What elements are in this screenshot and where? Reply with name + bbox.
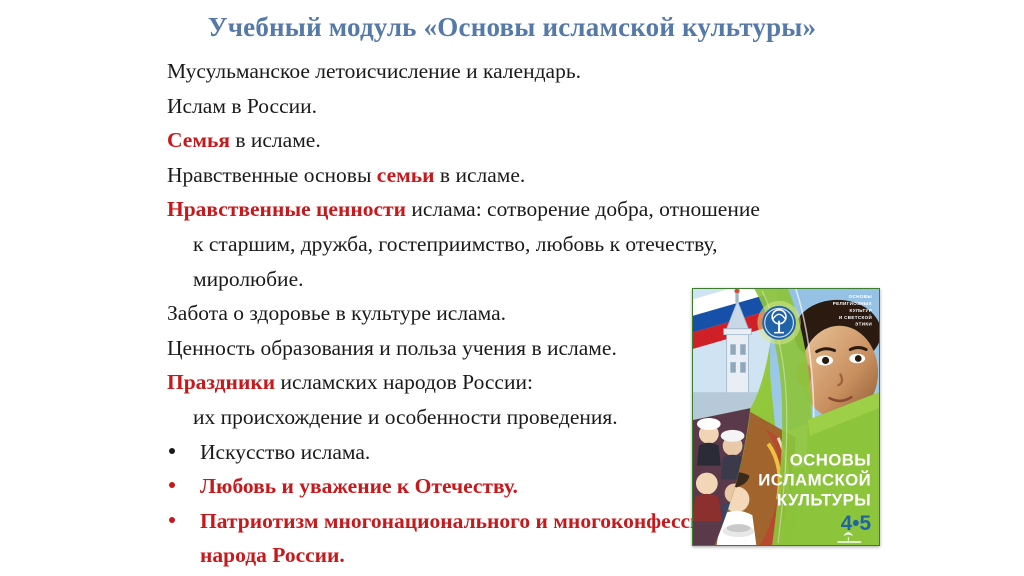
highlight-nravstvennye-cennosti: Нравственные ценности xyxy=(167,197,406,221)
tree-emblem-icon xyxy=(757,301,801,345)
cover-title-line-1: ОСНОВЫ xyxy=(790,451,871,470)
body-line-3-rest: в исламе. xyxy=(230,128,321,152)
page-title: Учебный модуль «Основы исламской культур… xyxy=(0,11,1024,43)
bullet-dot-icon xyxy=(169,448,175,454)
body-line-4: Нравственные основы семьи в исламе. xyxy=(167,158,887,193)
body-line-3: Семья в исламе. xyxy=(167,123,887,158)
highlight-semyi: семьи xyxy=(377,163,435,187)
body-line-8-rest: исламских народов России: xyxy=(275,370,533,394)
cover-series-line-3: КУЛЬТУР xyxy=(849,308,872,313)
bullet-dot-icon xyxy=(169,482,175,488)
presentation-slide: Учебный модуль «Основы исламской культур… xyxy=(0,0,1024,576)
list-item-label: Любовь и уважение к Отечеству. xyxy=(200,474,518,498)
bullet-dot-icon xyxy=(169,517,175,523)
textbook-cover-image: ОСНОВЫ РЕЛИГИОЗНЫХ КУЛЬТУР И СВЕТСКОЙ ЭТ… xyxy=(692,288,880,546)
body-line-5: Нравственные ценности ислама: сотворение… xyxy=(167,192,887,227)
cover-series-line-5: ЭТИКИ xyxy=(855,322,872,327)
cover-title-line-2: ИСЛАМСКОЙ xyxy=(758,470,871,489)
highlight-prazdniki: Праздники xyxy=(167,370,275,394)
book-cover-artwork: ОСНОВЫ РЕЛИГИОЗНЫХ КУЛЬТУР И СВЕТСКОЙ ЭТ… xyxy=(693,289,879,545)
highlight-semya: Семья xyxy=(167,128,230,152)
body-line-2: Ислам в России. xyxy=(167,89,887,124)
cover-series-line-4: И СВЕТСКОЙ xyxy=(839,313,872,320)
body-line-5b: к старшим, дружба, гостеприимство, любов… xyxy=(167,227,887,262)
cover-title-line-3: КУЛЬТУРЫ xyxy=(777,490,871,509)
body-line-4-pre: Нравственные основы xyxy=(167,163,377,187)
body-line-5-rest: ислама: сотворение добра, отношение xyxy=(406,197,760,221)
cover-grades: 4•5 xyxy=(841,512,871,535)
cover-series-line-2: РЕЛИГИОЗНЫХ xyxy=(833,301,872,306)
body-line-4-post: в исламе. xyxy=(435,163,526,187)
cover-series-line-1: ОСНОВЫ xyxy=(849,294,873,299)
list-item-label: Искусство ислама. xyxy=(200,440,370,464)
body-line-1: Мусульманское летоисчисление и календарь… xyxy=(167,54,887,89)
